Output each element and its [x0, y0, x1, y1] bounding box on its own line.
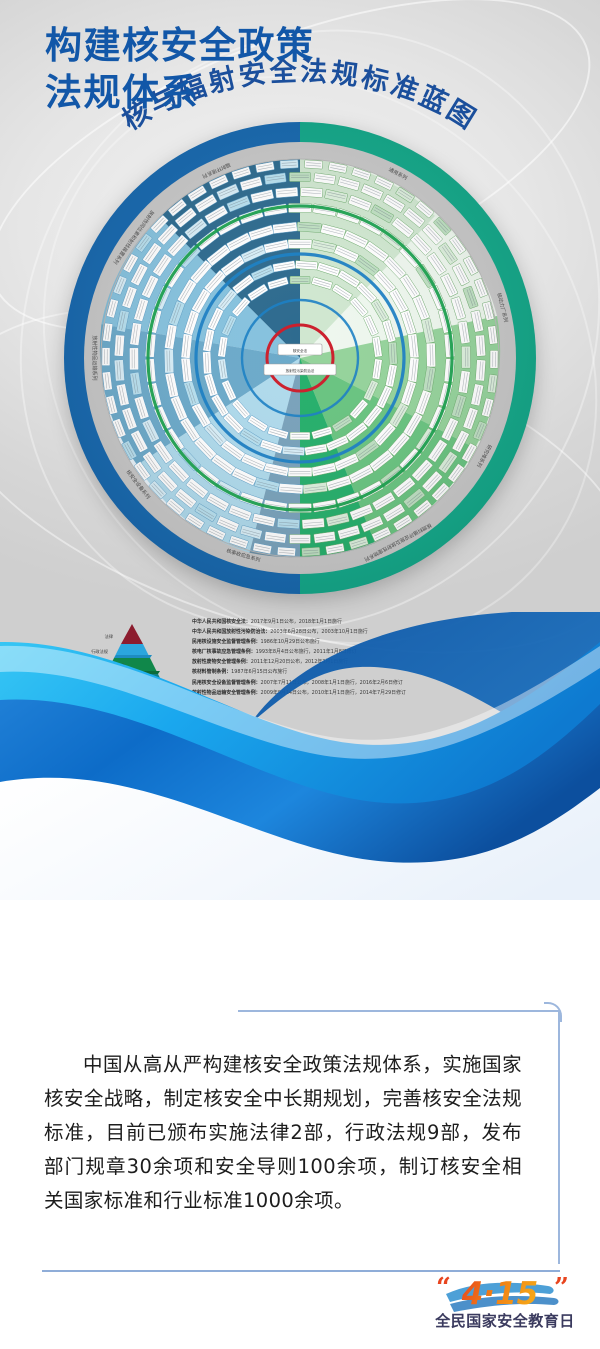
wheel-document-card — [290, 432, 310, 440]
wheel-document-card — [277, 547, 296, 556]
blue-wave-decoration — [0, 612, 600, 942]
sunburst-diagram: 核安全法 放射性污染防治法 通用系列核动力厂系列研究堆系列核燃料循环设施及放射性… — [45, 118, 555, 598]
logo-number: 4·15 — [461, 1276, 539, 1312]
wheel-document-card — [302, 547, 320, 556]
wheel-document-card — [490, 350, 498, 368]
section-heading: 构建核安全政策 法规体系 — [45, 22, 465, 116]
wheel-document-card — [461, 346, 470, 368]
heading-line-1: 构建核安全政策 — [45, 24, 315, 67]
core-law-2: 放射性污染防治法 — [286, 368, 315, 373]
poster-root: 核与辐射安全法规标准蓝图 — [0, 0, 600, 1349]
section-body-text: 中国从高从严构建核安全政策法规体系，实施国家核安全战略，制定核安全中长期规划，完… — [44, 1048, 522, 1218]
heading-rule-horizontal — [238, 1010, 560, 1012]
quote-open: “ — [436, 1273, 451, 1303]
wheel-document-card — [203, 352, 212, 374]
wheel-document-card — [282, 446, 305, 456]
wheel-document-card — [290, 173, 311, 182]
wheel-document-card — [426, 343, 436, 367]
logo-caption: 全民国家安全教育日 — [434, 1312, 575, 1330]
wheel-document-card — [304, 160, 323, 169]
wheel-document-card — [290, 535, 311, 544]
wheel-document-card — [388, 342, 397, 364]
quote-close: ” — [554, 1273, 569, 1303]
core-law-1: 核安全法 — [293, 348, 308, 353]
wheel-document-card — [295, 260, 318, 270]
wheel-document-card — [288, 468, 312, 477]
wheel-document-card — [129, 348, 138, 370]
wheel-document-card — [164, 349, 174, 373]
wheel-document-card — [102, 348, 110, 366]
heading-line-2: 法规体系 — [45, 69, 465, 116]
wheel-document-card — [280, 160, 298, 169]
wheel-sector-label: 放射性物品运输系列 — [91, 335, 98, 380]
wheel-document-card — [290, 276, 310, 284]
wheel-document-card — [288, 240, 312, 249]
national-security-education-day-logo: “ ” 4·15 全民国家安全教育日 — [428, 1268, 583, 1334]
heading-rule-vertical — [558, 1012, 560, 1264]
